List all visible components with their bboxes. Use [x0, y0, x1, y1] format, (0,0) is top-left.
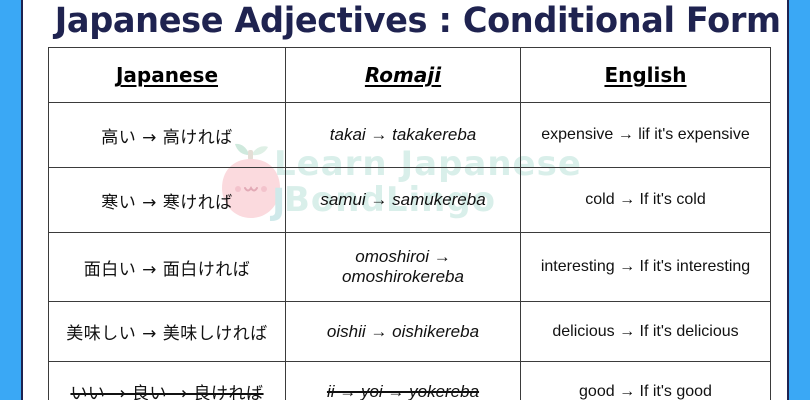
table-row: 美味しい → 美味しければ oishii → oishikereba delic…	[49, 302, 771, 362]
left-accent-bar	[0, 0, 23, 400]
table-header-row: Japanese Romaji English	[49, 48, 771, 103]
cell-romaji: omoshiroi → omoshirokereba	[286, 233, 521, 302]
cell-english: cold → If it's cold	[521, 168, 771, 233]
cell-romaji: samui → samukereba	[286, 168, 521, 233]
table-row: 面白い → 面白ければ omoshiroi → omoshirokereba i…	[49, 233, 771, 302]
cell-english: interesting → If it's interesting	[521, 233, 771, 302]
column-header-japanese: Japanese	[49, 48, 286, 103]
conjugation-table-wrapper: Japanese Romaji English 高い → 高ければ takai …	[48, 47, 770, 392]
cell-romaji: oishii → oishikereba	[286, 302, 521, 362]
table-row: いい → 良い → 良ければ ii → yoi → yokereba good …	[49, 362, 771, 400]
cell-japanese: 美味しい → 美味しければ	[49, 302, 286, 362]
cell-japanese: 面白い → 面白ければ	[49, 233, 286, 302]
table-row: 高い → 高ければ takai → takakereba expensive →…	[49, 103, 771, 168]
cell-romaji: takai → takakereba	[286, 103, 521, 168]
cell-english: delicious → If it's delicious	[521, 302, 771, 362]
page-title: Japanese Adjectives : Conditional Form	[55, 0, 765, 44]
cell-romaji: ii → yoi → yokereba	[286, 362, 521, 400]
column-header-romaji: Romaji	[286, 48, 521, 103]
cell-english: expensive → lif it's expensive	[521, 103, 771, 168]
conjugation-table: Japanese Romaji English 高い → 高ければ takai …	[48, 47, 771, 400]
cell-japanese: いい → 良い → 良ければ	[49, 362, 286, 400]
cell-japanese: 高い → 高ければ	[49, 103, 286, 168]
right-accent-bar	[787, 0, 810, 400]
poster-page: Japanese Adjectives : Conditional Form L…	[0, 0, 810, 400]
column-header-english: English	[521, 48, 771, 103]
table-row: 寒い → 寒ければ samui → samukereba cold → If i…	[49, 168, 771, 233]
cell-japanese: 寒い → 寒ければ	[49, 168, 286, 233]
cell-english: good → If it's good	[521, 362, 771, 400]
